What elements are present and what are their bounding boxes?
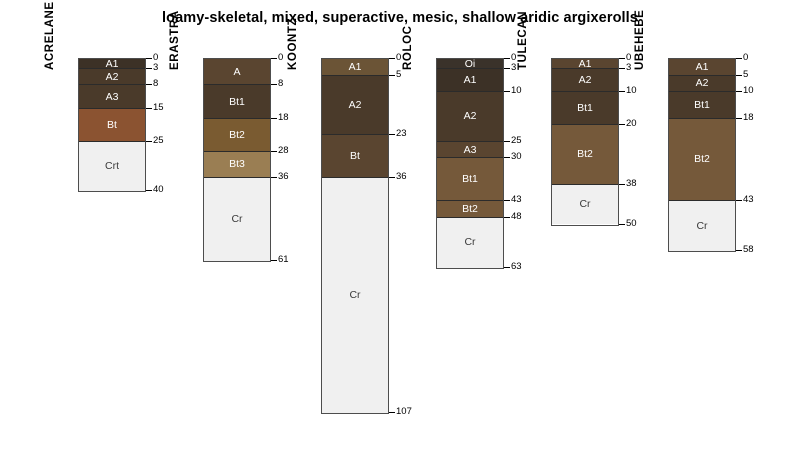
horizon-label: Bt3 <box>204 159 270 170</box>
profile-name-label: ERASTRA <box>169 10 181 70</box>
horizon-a2: A2 <box>669 76 735 93</box>
profile-column: OiA1A2A3Bt1Bt2Cr <box>436 58 504 269</box>
depth-tick <box>619 68 625 69</box>
horizon-label: A3 <box>79 92 145 103</box>
horizon-label: Bt <box>79 120 145 131</box>
horizon-label: A <box>204 67 270 78</box>
depth-tick-label: 5 <box>396 70 401 80</box>
depth-tick-label: 10 <box>743 86 754 96</box>
horizon-bt2: Bt2 <box>204 119 270 152</box>
depth-tick-label: 40 <box>153 185 164 195</box>
horizon-a2: A2 <box>437 92 503 142</box>
horizon-cr: Cr <box>669 201 735 251</box>
depth-tick <box>619 91 625 92</box>
horizon-a3: A3 <box>79 85 145 108</box>
horizon-label: A2 <box>79 72 145 83</box>
horizon-a2: A2 <box>322 76 388 136</box>
figure-title: loamy-skeletal, mixed, superactive, mesi… <box>0 0 800 36</box>
depth-tick <box>146 108 152 109</box>
depth-tick <box>271 177 277 178</box>
profile-column: A1A2BtCr <box>321 58 389 414</box>
horizon-label: Bt2 <box>552 149 618 160</box>
depth-tick-label: 3 <box>153 63 158 73</box>
depth-tick-label: 0 <box>396 53 401 63</box>
depth-tick-label: 25 <box>511 136 522 146</box>
depth-tick <box>504 267 510 268</box>
depth-tick <box>736 118 742 119</box>
horizon-label: Oi <box>437 59 503 69</box>
horizon-a: A <box>204 59 270 85</box>
horizon-label: A1 <box>437 75 503 86</box>
depth-tick <box>504 58 510 59</box>
depth-tick-label: 20 <box>626 119 637 129</box>
horizon-a1: A1 <box>322 59 388 76</box>
depth-tick-label: 0 <box>743 53 748 63</box>
horizon-oi: Oi <box>437 59 503 69</box>
profile-name-label: KOONTZ <box>287 18 299 70</box>
profile-column: ABt1Bt2Bt3Cr <box>203 58 271 262</box>
horizon-bt1: Bt1 <box>552 92 618 125</box>
depth-tick-label: 10 <box>626 86 637 96</box>
depth-tick-label: 38 <box>626 179 637 189</box>
depth-tick <box>389 58 395 59</box>
depth-tick-label: 10 <box>511 86 522 96</box>
depth-tick-label: 8 <box>153 79 158 89</box>
horizon-label: Cr <box>669 221 735 232</box>
depth-tick-label: 61 <box>278 255 289 265</box>
horizon-label: A3 <box>437 145 503 156</box>
depth-tick <box>389 75 395 76</box>
horizon-bt1: Bt1 <box>669 92 735 118</box>
horizon-label: A2 <box>322 100 388 111</box>
depth-tick-label: 48 <box>511 212 522 222</box>
depth-tick-label: 8 <box>278 79 283 89</box>
depth-tick <box>619 224 625 225</box>
horizon-label: A1 <box>79 59 145 69</box>
horizon-label: Bt2 <box>204 130 270 141</box>
horizon-bt1: Bt1 <box>204 85 270 118</box>
horizon-a1: A1 <box>79 59 145 69</box>
horizon-label: Bt1 <box>437 174 503 185</box>
horizon-label: Bt2 <box>669 154 735 165</box>
depth-tick <box>736 250 742 251</box>
horizon-label: Cr <box>552 199 618 210</box>
horizon-label: Cr <box>322 290 388 301</box>
profile-column: A1A2A3BtCrt <box>78 58 146 192</box>
depth-tick <box>504 217 510 218</box>
horizon-label: Bt <box>322 151 388 162</box>
depth-tick <box>146 141 152 142</box>
horizon-cr: Cr <box>437 218 503 268</box>
depth-tick-label: 25 <box>153 136 164 146</box>
horizon-bt2: Bt2 <box>669 119 735 202</box>
horizon-a3: A3 <box>437 142 503 159</box>
depth-tick <box>504 200 510 201</box>
depth-tick-label: 3 <box>511 63 516 73</box>
horizon-bt2: Bt2 <box>437 201 503 218</box>
horizon-bt: Bt <box>79 109 145 142</box>
horizon-label: Bt1 <box>552 103 618 114</box>
profile-column: A1A2Bt1Bt2Cr <box>668 58 736 252</box>
depth-tick-label: 3 <box>626 63 631 73</box>
depth-tick-label: 58 <box>743 245 754 255</box>
depth-tick-label: 36 <box>278 172 289 182</box>
horizon-label: A2 <box>437 111 503 122</box>
horizon-bt3: Bt3 <box>204 152 270 178</box>
depth-tick-label: 18 <box>743 113 754 123</box>
horizon-a2: A2 <box>79 69 145 86</box>
horizon-a1: A1 <box>552 59 618 69</box>
horizon-bt: Bt <box>322 135 388 178</box>
depth-tick <box>619 124 625 125</box>
depth-tick <box>271 84 277 85</box>
depth-tick <box>619 184 625 185</box>
profile-name-label: TULECAN <box>517 11 529 70</box>
horizon-bt2: Bt2 <box>552 125 618 185</box>
depth-tick-label: 15 <box>153 103 164 113</box>
depth-tick <box>389 412 395 413</box>
depth-tick <box>146 84 152 85</box>
depth-tick-label: 63 <box>511 262 522 272</box>
depth-tick-label: 18 <box>278 113 289 123</box>
depth-tick-label: 107 <box>396 407 412 417</box>
depth-tick <box>504 68 510 69</box>
depth-tick-label: 5 <box>743 70 748 80</box>
depth-tick <box>504 141 510 142</box>
horizon-label: A1 <box>322 62 388 73</box>
horizon-cr: Cr <box>322 178 388 413</box>
depth-tick <box>146 190 152 191</box>
depth-tick-label: 50 <box>626 219 637 229</box>
horizon-a1: A1 <box>437 69 503 92</box>
depth-tick <box>146 58 152 59</box>
horizon-crt: Crt <box>79 142 145 192</box>
profile-name-label: UBEHEBE <box>634 10 646 70</box>
horizon-a1: A1 <box>669 59 735 76</box>
depth-tick <box>271 118 277 119</box>
depth-tick-label: 43 <box>511 195 522 205</box>
depth-tick-label: 43 <box>743 195 754 205</box>
depth-tick <box>389 134 395 135</box>
horizon-label: Bt1 <box>204 97 270 108</box>
profile-name-label: ACRELANE <box>44 1 56 70</box>
depth-tick-label: 28 <box>278 146 289 156</box>
depth-tick-label: 23 <box>396 129 407 139</box>
horizon-label: Bt2 <box>437 204 503 215</box>
horizon-label: A2 <box>552 75 618 86</box>
depth-tick-label: 36 <box>396 172 407 182</box>
horizon-label: Cr <box>204 214 270 225</box>
horizon-a2: A2 <box>552 69 618 92</box>
depth-tick <box>271 260 277 261</box>
depth-tick <box>504 157 510 158</box>
depth-tick <box>504 91 510 92</box>
horizon-cr: Cr <box>204 178 270 261</box>
horizon-label: A1 <box>552 59 618 69</box>
soil-profile-plot: ACRELANEA1A2A3BtCrt038152540ERASTRAABt1B… <box>0 36 800 450</box>
horizon-cr: Cr <box>552 185 618 225</box>
depth-tick <box>271 151 277 152</box>
depth-tick <box>389 177 395 178</box>
horizon-label: Bt1 <box>669 100 735 111</box>
depth-tick-label: 0 <box>278 53 283 63</box>
depth-tick <box>736 200 742 201</box>
depth-tick <box>619 58 625 59</box>
horizon-label: Crt <box>79 161 145 172</box>
depth-tick <box>146 68 152 69</box>
horizon-bt1: Bt1 <box>437 158 503 201</box>
depth-tick <box>271 58 277 59</box>
horizon-label: Cr <box>437 237 503 248</box>
horizon-label: A1 <box>669 62 735 73</box>
depth-tick <box>736 75 742 76</box>
depth-tick <box>736 91 742 92</box>
profile-column: A1A2Bt1Bt2Cr <box>551 58 619 226</box>
horizon-label: A2 <box>669 78 735 89</box>
profile-name-label: ROLOC <box>402 25 414 70</box>
depth-tick <box>736 58 742 59</box>
depth-tick-label: 30 <box>511 152 522 162</box>
